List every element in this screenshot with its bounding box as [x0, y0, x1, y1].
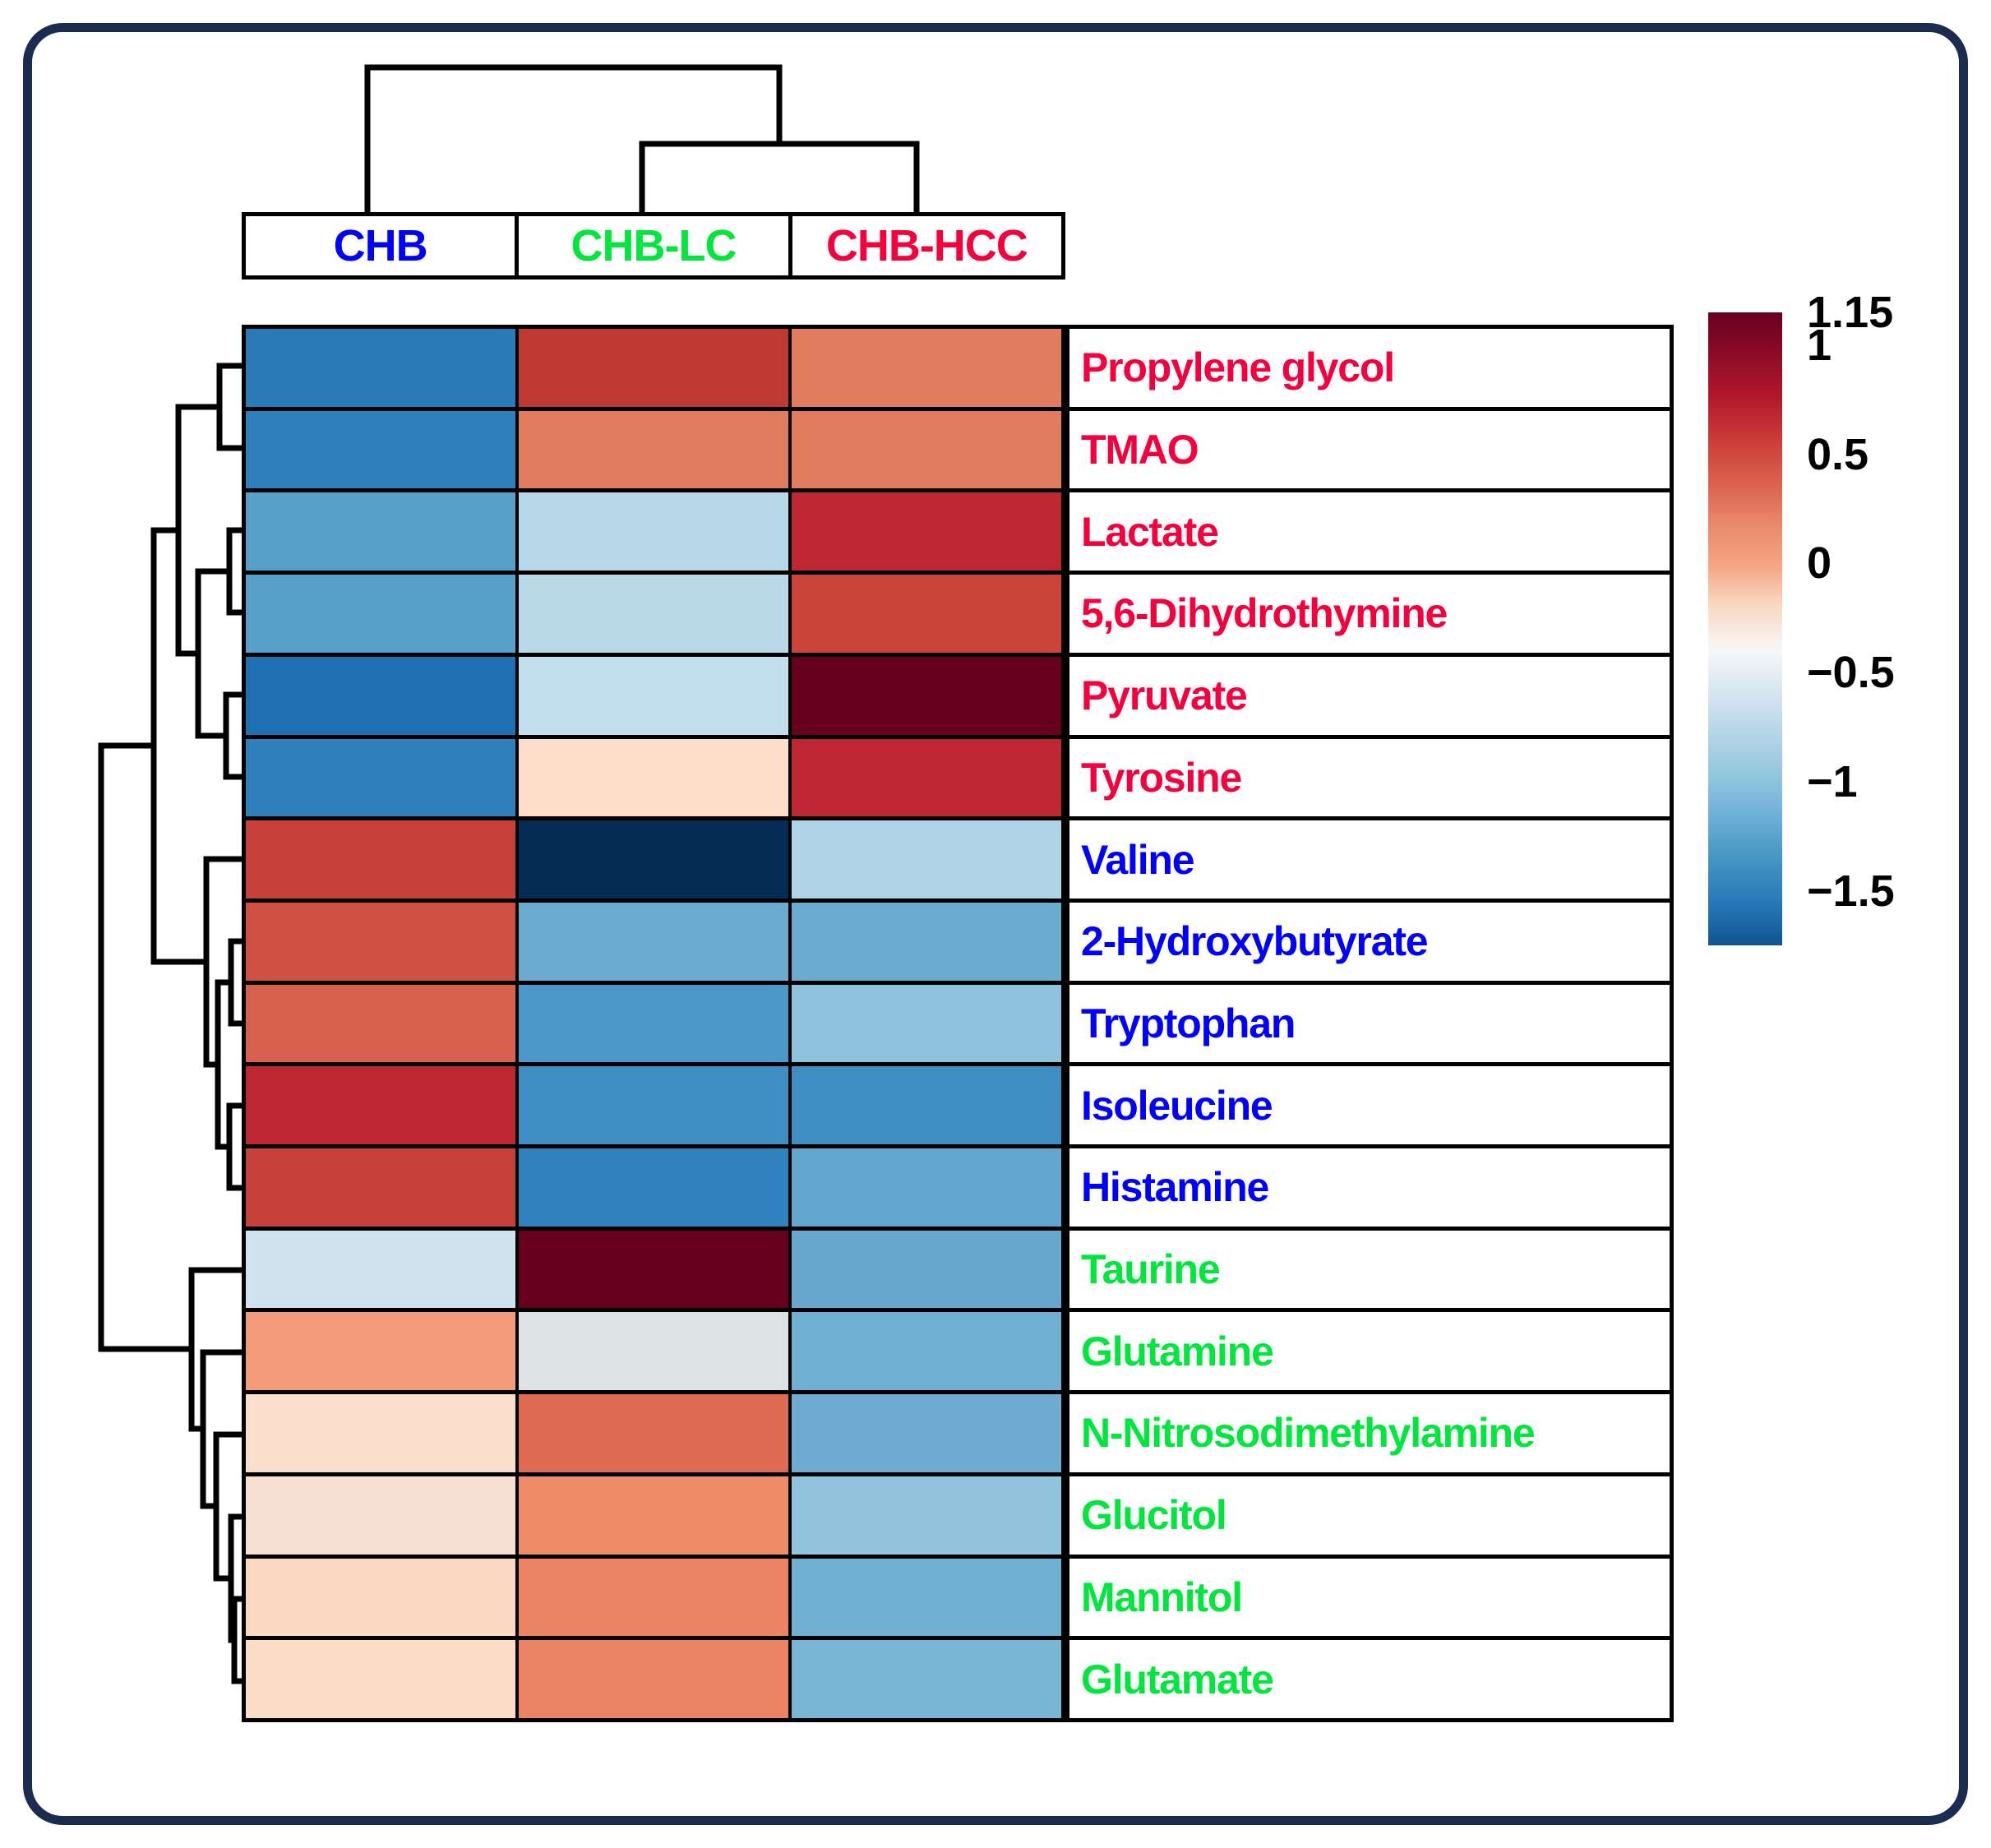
- heatmap-cell[interactable]: [792, 739, 1061, 817]
- colorbar-tick-labels: 1.1510.50−0.5−1−1.5: [1807, 312, 1947, 945]
- heatmap-cell[interactable]: [246, 1312, 519, 1390]
- heatmap-cell[interactable]: [792, 1148, 1061, 1227]
- heatmap-cell[interactable]: [519, 1066, 792, 1144]
- column-header-chb-hcc-label: CHB-HCC: [826, 220, 1028, 271]
- heatmap-cell[interactable]: [792, 903, 1061, 981]
- heatmap-cell[interactable]: [792, 657, 1061, 735]
- row-label-7[interactable]: 2-Hydroxybutyrate: [1069, 903, 1670, 985]
- row-label-text: N-Nitrosodimethylamine: [1081, 1409, 1534, 1457]
- heatmap-row: [246, 1394, 1061, 1476]
- heatmap-cell[interactable]: [792, 1231, 1061, 1309]
- heatmap-cell[interactable]: [519, 1312, 792, 1390]
- column-header-row: CHB CHB-LC CHB-HCC: [242, 212, 1065, 280]
- heatmap-cell[interactable]: [519, 739, 792, 817]
- row-label-9[interactable]: Isoleucine: [1069, 1066, 1670, 1148]
- row-label-text: Glutamine: [1081, 1328, 1273, 1375]
- heatmap-row: [246, 411, 1061, 493]
- heatmap-row: [246, 985, 1061, 1067]
- row-dendrogram: [78, 325, 243, 1722]
- row-label-text: Taurine: [1081, 1245, 1219, 1293]
- row-label-text: Glucitol: [1081, 1491, 1226, 1539]
- heatmap-cell[interactable]: [246, 492, 519, 571]
- row-label-5[interactable]: Tyrosine: [1069, 739, 1670, 821]
- heatmap-cell[interactable]: [519, 575, 792, 653]
- heatmap-cell[interactable]: [519, 820, 792, 899]
- column-header-chb-hcc[interactable]: CHB-HCC: [788, 212, 1065, 280]
- column-dendrogram: [230, 49, 1069, 218]
- row-label-13[interactable]: N-Nitrosodimethylamine: [1069, 1394, 1670, 1476]
- heatmap-row: [246, 1476, 1061, 1559]
- row-label-text: Mannitol: [1081, 1573, 1242, 1621]
- heatmap-cell[interactable]: [246, 1559, 519, 1637]
- heatmap-row: [246, 1148, 1061, 1231]
- heatmap-cell[interactable]: [246, 1476, 519, 1555]
- heatmap-cell[interactable]: [246, 739, 519, 817]
- row-label-6[interactable]: Valine: [1069, 820, 1670, 903]
- row-label-2[interactable]: Lactate: [1069, 492, 1670, 575]
- heatmap-cell[interactable]: [246, 1066, 519, 1144]
- colorbar-legend: 1.1510.50−0.5−1−1.5: [1708, 312, 1914, 945]
- heatmap-cell[interactable]: [792, 1559, 1061, 1637]
- heatmap-cell[interactable]: [246, 820, 519, 899]
- heatmap-cell[interactable]: [519, 1231, 792, 1309]
- row-label-text: TMAO: [1081, 426, 1198, 474]
- heatmap-cell[interactable]: [519, 1148, 792, 1227]
- heatmap-row: [246, 575, 1061, 657]
- heatmap-row: [246, 1231, 1061, 1313]
- row-label-10[interactable]: Histamine: [1069, 1148, 1670, 1231]
- heatmap-cell[interactable]: [246, 1640, 519, 1718]
- row-label-text: Isoleucine: [1081, 1082, 1273, 1130]
- heatmap-cell[interactable]: [519, 1640, 792, 1718]
- row-label-14[interactable]: Glucitol: [1069, 1476, 1670, 1559]
- heatmap-row: [246, 820, 1061, 903]
- heatmap-grid: [242, 325, 1065, 1722]
- heatmap-row: [246, 903, 1061, 985]
- heatmap-cell[interactable]: [519, 903, 792, 981]
- row-label-15[interactable]: Mannitol: [1069, 1559, 1670, 1641]
- heatmap-figure: CHB CHB-LC CHB-HCC: [0, 0, 1991, 1848]
- row-label-text: 2-Hydroxybutyrate: [1081, 917, 1427, 965]
- row-label-column: Propylene glycolTMAOLactate5,6-Dihydroth…: [1065, 325, 1674, 1722]
- column-header-chb-lc[interactable]: CHB-LC: [515, 212, 792, 280]
- row-label-text: Lactate: [1081, 508, 1218, 556]
- row-label-3[interactable]: 5,6-Dihydrothymine: [1069, 575, 1670, 657]
- column-header-chb-label: CHB: [334, 220, 427, 271]
- heatmap-cell[interactable]: [792, 329, 1061, 407]
- colorbar-tick: −1.5: [1807, 866, 1895, 917]
- row-label-4[interactable]: Pyruvate: [1069, 657, 1670, 739]
- heatmap-cell[interactable]: [246, 1148, 519, 1227]
- row-label-text: Tryptophan: [1081, 1000, 1295, 1047]
- heatmap-cell[interactable]: [519, 1476, 792, 1555]
- heatmap-cell[interactable]: [519, 1559, 792, 1637]
- heatmap-cell[interactable]: [246, 657, 519, 735]
- colorbar-tick: −0.5: [1807, 647, 1895, 698]
- heatmap-cell[interactable]: [519, 411, 792, 489]
- colorbar-tick: 0.5: [1807, 429, 1869, 480]
- heatmap-cell[interactable]: [246, 411, 519, 489]
- colorbar-tick: −1: [1807, 756, 1858, 807]
- colorbar-tick: 0: [1807, 538, 1832, 589]
- row-label-text: Pyruvate: [1081, 672, 1247, 719]
- row-label-text: Valine: [1081, 836, 1194, 884]
- heatmap-cell[interactable]: [519, 1394, 792, 1472]
- row-label-text: Tyrosine: [1081, 754, 1241, 802]
- heatmap-cell[interactable]: [246, 329, 519, 407]
- heatmap-row: [246, 739, 1061, 821]
- heatmap-cell[interactable]: [792, 492, 1061, 571]
- heatmap-cell[interactable]: [519, 329, 792, 407]
- heatmap-row: [246, 1066, 1061, 1148]
- heatmap-cell[interactable]: [792, 1640, 1061, 1718]
- heatmap-cell[interactable]: [246, 1394, 519, 1472]
- heatmap-cell[interactable]: [792, 411, 1061, 489]
- heatmap-cell[interactable]: [792, 820, 1061, 899]
- heatmap-cell[interactable]: [792, 575, 1061, 653]
- row-label-text: Propylene glycol: [1081, 344, 1394, 391]
- heatmap-cell[interactable]: [519, 492, 792, 571]
- row-label-0[interactable]: Propylene glycol: [1069, 329, 1670, 411]
- heatmap-cell[interactable]: [792, 1394, 1061, 1472]
- column-header-chb-lc-label: CHB-LC: [571, 220, 737, 271]
- heatmap-row: [246, 1640, 1061, 1718]
- heatmap-cell[interactable]: [246, 1231, 519, 1309]
- heatmap-cell[interactable]: [792, 1476, 1061, 1555]
- heatmap-cell[interactable]: [519, 985, 792, 1063]
- row-label-text: Glutamate: [1081, 1656, 1273, 1703]
- row-label-11[interactable]: Taurine: [1069, 1231, 1670, 1313]
- heatmap-cell[interactable]: [246, 985, 519, 1063]
- row-label-1[interactable]: TMAO: [1069, 411, 1670, 493]
- heatmap-cell[interactable]: [792, 985, 1061, 1063]
- heatmap-row: [246, 1559, 1061, 1641]
- row-label-text: Histamine: [1081, 1163, 1268, 1211]
- heatmap-row: [246, 1312, 1061, 1394]
- heatmap-row: [246, 329, 1061, 411]
- row-label-12[interactable]: Glutamine: [1069, 1312, 1670, 1394]
- heatmap-cell[interactable]: [792, 1066, 1061, 1144]
- heatmap-cell[interactable]: [246, 903, 519, 981]
- colorbar-gradient: [1708, 312, 1782, 945]
- row-label-16[interactable]: Glutamate: [1069, 1640, 1670, 1718]
- heatmap-cell[interactable]: [792, 1312, 1061, 1390]
- heatmap-cell[interactable]: [519, 657, 792, 735]
- row-label-text: 5,6-Dihydrothymine: [1081, 589, 1447, 637]
- row-label-8[interactable]: Tryptophan: [1069, 985, 1670, 1067]
- heatmap-row: [246, 657, 1061, 739]
- heatmap-row: [246, 492, 1061, 575]
- colorbar-tick: 1: [1807, 320, 1832, 371]
- column-header-chb[interactable]: CHB: [242, 212, 519, 280]
- heatmap-cell[interactable]: [246, 575, 519, 653]
